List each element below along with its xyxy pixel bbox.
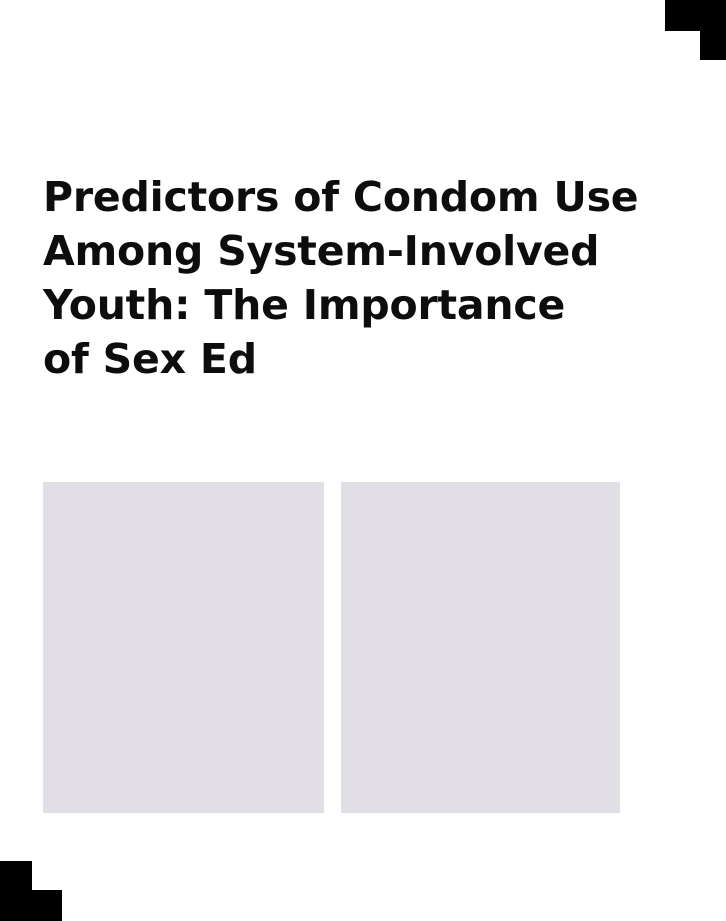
right-column-placeholder (341, 482, 620, 813)
page-title: Predictors of Condom Use Among System-In… (43, 170, 643, 386)
corner-marker-bottom-left-bar (0, 890, 62, 921)
left-column-placeholder (43, 482, 324, 813)
corner-marker-top-right-block (700, 31, 726, 60)
corner-marker-top-right-bar (665, 0, 726, 31)
document-page: Predictors of Condom Use Among System-In… (0, 0, 726, 921)
